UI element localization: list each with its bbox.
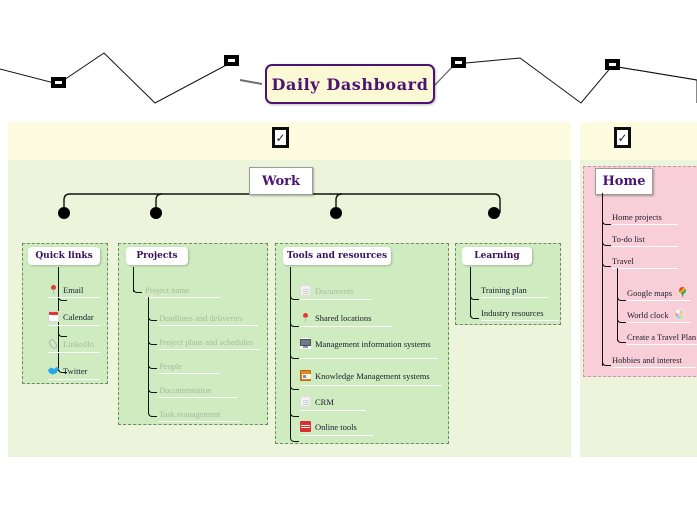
- paperclip-icon: [48, 338, 59, 349]
- tree-tick: [470, 305, 479, 319]
- tree-tick: [290, 403, 299, 417]
- list-item-label: LinkedIn: [63, 339, 94, 349]
- list-item-label: People: [159, 361, 182, 371]
- tree-tick: [617, 309, 626, 323]
- list-item[interactable]: CRM: [300, 397, 334, 408]
- list-item[interactable]: Google maps: [627, 288, 688, 299]
- list-item-label: Deadlines and deliveries: [159, 313, 243, 323]
- list-item-label: Task management: [159, 409, 220, 419]
- tree-tick: [602, 253, 611, 267]
- list-item-label: Home projects: [612, 212, 662, 222]
- list-item[interactable]: Deadlines and deliveries: [159, 313, 243, 323]
- list-item[interactable]: Shared locations: [300, 313, 371, 324]
- collapse-marker-icon[interactable]: [51, 77, 66, 88]
- list-item[interactable]: Knowledge Management systems: [300, 371, 430, 382]
- tree-tick: [290, 428, 299, 442]
- document-icon: [300, 285, 311, 296]
- list-item[interactable]: Task management: [159, 409, 220, 419]
- item-underline: [300, 435, 374, 436]
- tree-tick: [148, 405, 157, 417]
- work-section-header-band: [8, 122, 571, 160]
- list-item-label: Travel: [612, 256, 634, 266]
- check-glyph: ✓: [275, 132, 285, 144]
- list-item[interactable]: Training plan: [481, 285, 527, 295]
- list-item-label: Management information systems: [315, 339, 433, 349]
- home-checkbox-icon[interactable]: ✓: [614, 127, 631, 148]
- list-item-label: Email: [63, 285, 83, 295]
- item-underline: [300, 326, 392, 327]
- item-underline: [159, 397, 237, 398]
- tree-tick: [148, 309, 157, 321]
- tree-tick: [617, 329, 626, 343]
- item-underline: [159, 325, 258, 326]
- group-title-label: Quick links: [35, 251, 92, 261]
- item-underline: [48, 379, 100, 380]
- collapse-marker-icon[interactable]: [605, 59, 620, 70]
- list-item-label: Twitter: [63, 366, 87, 376]
- item-underline: [612, 246, 678, 247]
- tree-tick: [602, 352, 611, 366]
- list-item[interactable]: World clock: [627, 310, 685, 321]
- list-item[interactable]: Documents: [300, 286, 354, 297]
- list-item[interactable]: Calendar: [48, 312, 94, 323]
- group-title-tools-and-resources[interactable]: Tools and resources: [283, 247, 391, 265]
- tree-tick: [148, 357, 157, 369]
- item-underline: [300, 299, 372, 300]
- check-glyph: ✓: [617, 132, 627, 144]
- group-title-learning[interactable]: Learning: [462, 247, 532, 265]
- list-item-label: Project plans and schedules: [159, 337, 253, 347]
- tree-tick: [148, 381, 157, 393]
- item-underline: [612, 224, 678, 225]
- briefcase-icon: [300, 370, 311, 381]
- item-underline: [145, 297, 220, 298]
- tree-tick: [290, 345, 299, 359]
- item-underline: [159, 421, 241, 422]
- item-underline: [300, 358, 438, 359]
- root-node-daily-dashboard[interactable]: Daily Dashboard: [265, 64, 435, 104]
- list-item[interactable]: Documentation: [159, 385, 211, 395]
- list-item-label: Create a Travel Plan: [627, 332, 696, 342]
- tree-tick: [602, 211, 611, 225]
- list-item-label: CRM: [315, 397, 334, 407]
- item-underline: [48, 325, 100, 326]
- category-node-home[interactable]: Home: [595, 168, 653, 195]
- root-title: Daily Dashboard: [272, 75, 429, 94]
- collapse-marker-icon[interactable]: [224, 55, 239, 66]
- tree-tick: [290, 313, 299, 327]
- list-item[interactable]: Hobbies and interest: [612, 355, 682, 365]
- item-underline: [612, 268, 678, 269]
- list-item-label: Google maps: [627, 288, 672, 298]
- item-underline: [300, 385, 442, 386]
- group-title-projects[interactable]: Projects: [126, 247, 188, 265]
- tree-tick: [133, 281, 142, 293]
- list-item-label: Documentation: [159, 385, 211, 395]
- list-item[interactable]: Home projects: [612, 212, 662, 222]
- list-item-label: Documents: [315, 286, 354, 296]
- group-title-label: Tools and resources: [287, 251, 387, 261]
- item-underline: [627, 344, 697, 345]
- list-item[interactable]: LinkedIn: [48, 339, 94, 350]
- list-item-label: Hobbies and interest: [612, 355, 682, 365]
- group-home[interactable]: [583, 166, 697, 377]
- google-maps-icon: [677, 287, 688, 298]
- tree-tick: [617, 287, 626, 301]
- list-item[interactable]: Management information systems: [300, 339, 436, 350]
- tree-tick: [290, 286, 299, 300]
- list-item-label: Calendar: [63, 312, 94, 322]
- pin-icon: [300, 312, 311, 323]
- list-item-label: Industry resources: [481, 308, 544, 318]
- list-item[interactable]: Email: [48, 285, 83, 296]
- bird-icon: [48, 365, 59, 376]
- category-node-work-label: Work: [262, 174, 300, 189]
- item-underline: [627, 322, 691, 323]
- item-underline: [481, 297, 548, 298]
- item-underline: [300, 410, 366, 411]
- list-item[interactable]: Online tools: [300, 422, 357, 433]
- list-item[interactable]: To-do list: [612, 234, 645, 244]
- item-underline: [612, 367, 696, 368]
- list-item[interactable]: Industry resources: [481, 308, 544, 318]
- world-clock-icon: [674, 309, 685, 320]
- list-item-label: Shared locations: [315, 313, 371, 323]
- item-underline: [159, 349, 260, 350]
- tree-tick: [148, 333, 157, 345]
- list-item[interactable]: Project name: [145, 285, 190, 295]
- item-underline: [48, 297, 100, 298]
- category-node-work[interactable]: Work: [249, 167, 313, 195]
- list-item-label: To-do list: [612, 234, 645, 244]
- group-title-label: Learning: [474, 251, 519, 261]
- item-underline: [627, 300, 691, 301]
- list-item-label: Knowledge Management systems: [315, 371, 430, 381]
- category-node-home-label: Home: [603, 174, 646, 189]
- list-item-label: Online tools: [315, 422, 357, 432]
- item-underline: [481, 320, 559, 321]
- book-icon: [300, 421, 311, 432]
- list-item[interactable]: Create a Travel Plan: [627, 332, 696, 342]
- document-icon: [300, 396, 311, 407]
- list-item-label: Project name: [145, 285, 190, 295]
- tree-tick: [470, 286, 479, 300]
- group-title-label: Projects: [136, 251, 177, 261]
- list-item[interactable]: Project plans and schedules: [159, 337, 253, 347]
- collapse-marker-icon[interactable]: [451, 57, 466, 68]
- item-underline: [48, 352, 100, 353]
- work-checkbox-icon[interactable]: ✓: [272, 127, 289, 148]
- calendar-icon: [48, 311, 59, 322]
- mindmap-canvas: Daily Dashboard ✓ ✓ Work Quick links Ema…: [0, 0, 697, 520]
- item-underline: [159, 373, 219, 374]
- list-item[interactable]: Travel: [612, 256, 634, 266]
- list-item[interactable]: Twitter: [48, 366, 87, 377]
- monitor-icon: [300, 338, 311, 349]
- home-section-header-band: [580, 122, 697, 160]
- list-item-label: Training plan: [481, 285, 527, 295]
- list-item[interactable]: People: [159, 361, 182, 371]
- tree-tick: [602, 232, 611, 246]
- tree-tick: [290, 376, 299, 390]
- group-title-quick-links[interactable]: Quick links: [28, 247, 100, 265]
- list-item-label: World clock: [627, 310, 669, 320]
- pin-icon: [48, 284, 59, 295]
